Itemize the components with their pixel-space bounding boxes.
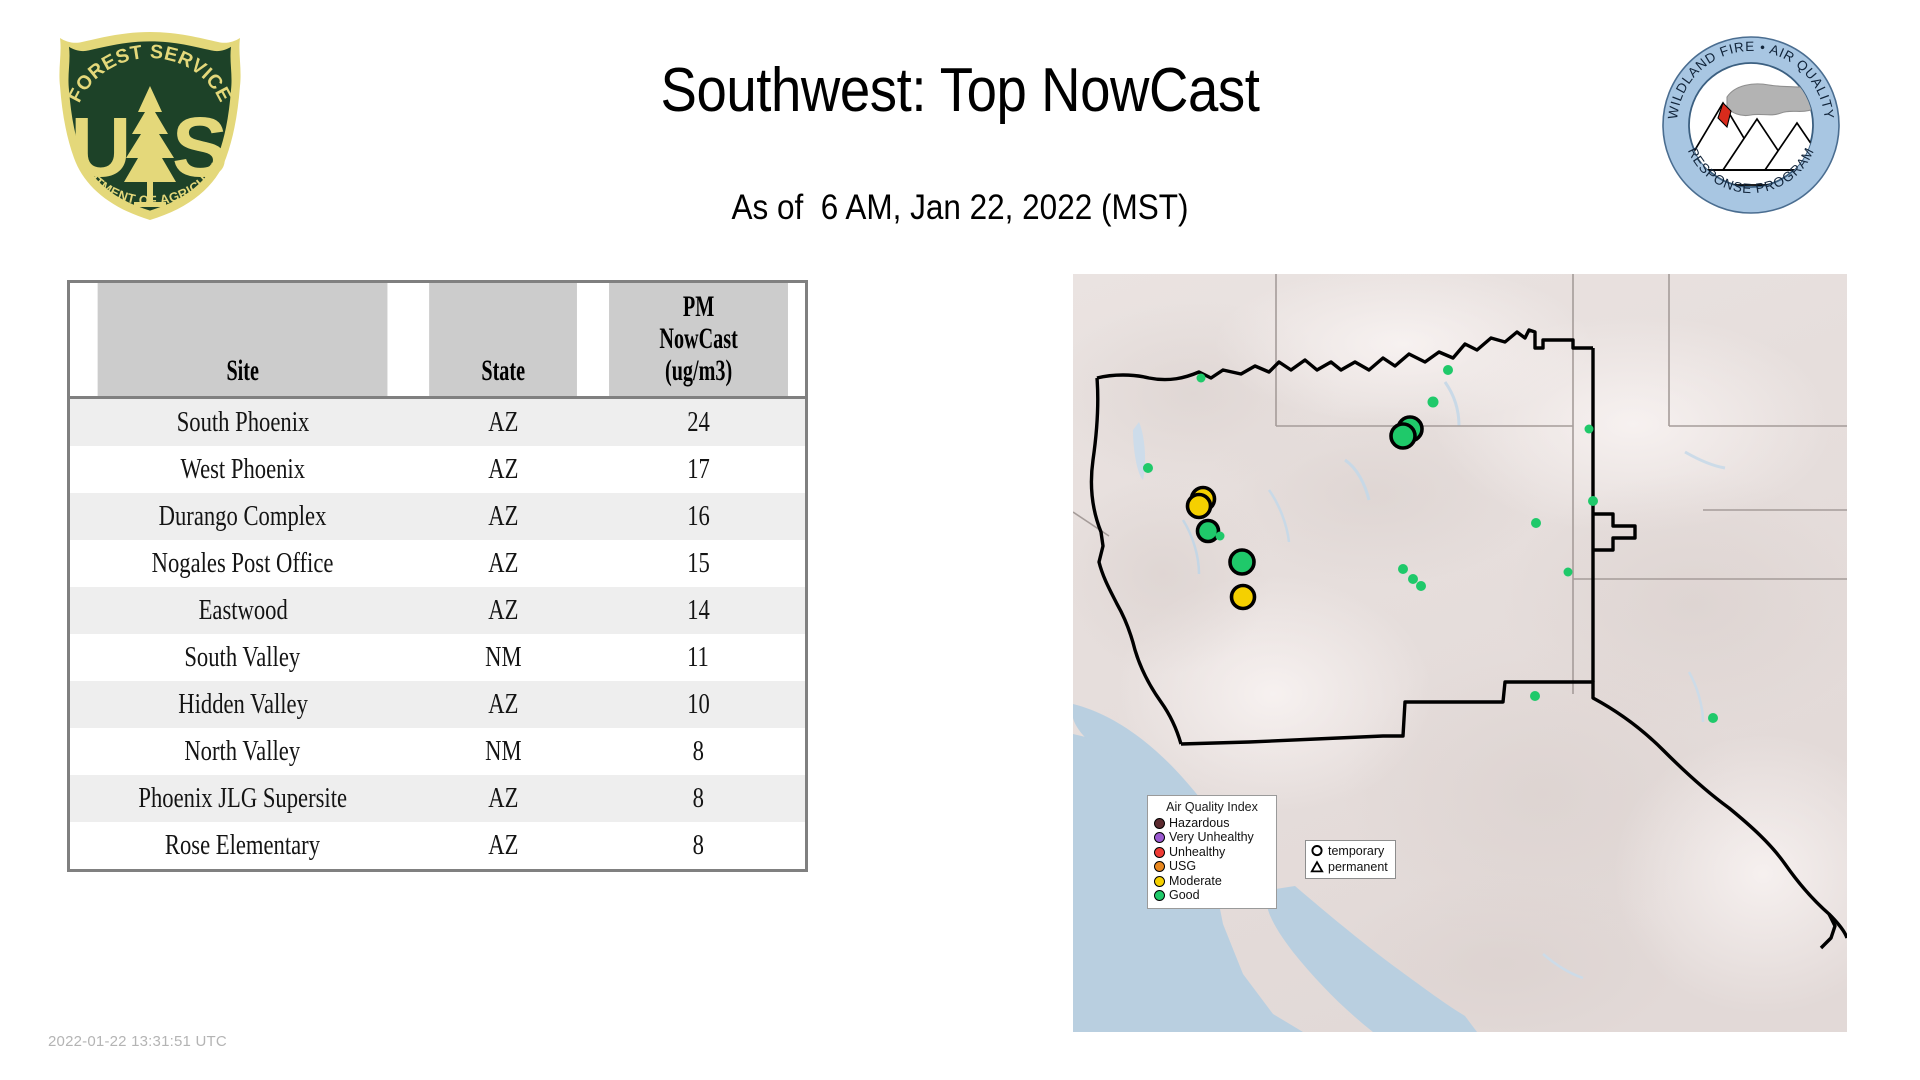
state-cell: AZ bbox=[415, 493, 591, 540]
pm-nowcast-cell: 8 bbox=[592, 728, 805, 775]
site-cell: South Phoenix bbox=[70, 398, 415, 447]
aqi-legend-row: Unhealthy bbox=[1154, 845, 1270, 860]
monitor-marker[interactable] bbox=[1443, 365, 1453, 375]
site-cell: West Phoenix bbox=[70, 446, 415, 493]
table-row: EastwoodAZ14 bbox=[70, 587, 805, 634]
pm-nowcast-cell-value: 8 bbox=[693, 822, 704, 869]
table-row: Nogales Post OfficeAZ15 bbox=[70, 540, 805, 587]
aqi-legend-row: Moderate bbox=[1154, 874, 1270, 889]
state-cell-value: AZ bbox=[489, 493, 519, 540]
column-header-pm-line1: PM bbox=[627, 291, 770, 323]
site-cell-value: Durango Complex bbox=[159, 493, 327, 540]
aqi-legend-label: USG bbox=[1169, 860, 1196, 873]
page-title: Southwest: Top NowCast bbox=[344, 55, 1576, 126]
monitor-marker[interactable] bbox=[1398, 564, 1408, 574]
state-cell: AZ bbox=[415, 681, 591, 728]
aqi-swatch-icon bbox=[1154, 832, 1165, 843]
page-header: FOREST SERVICE DEPARTMENT OF AGRICULTURE… bbox=[0, 0, 1920, 265]
monitor-marker[interactable] bbox=[1564, 568, 1573, 577]
circle-outline-icon bbox=[1310, 844, 1324, 858]
monitor-marker[interactable] bbox=[1188, 495, 1211, 518]
monitor-marker[interactable] bbox=[1216, 532, 1225, 541]
column-header-state: State bbox=[430, 283, 578, 398]
state-cell-value: AZ bbox=[489, 681, 519, 728]
site-cell: South Valley bbox=[70, 634, 415, 681]
column-header-state-label: State bbox=[444, 355, 563, 387]
site-cell-value: Eastwood bbox=[198, 587, 287, 634]
table-row: Durango ComplexAZ16 bbox=[70, 493, 805, 540]
state-cell-value: AZ bbox=[489, 446, 519, 493]
aqi-legend-row: Good bbox=[1154, 889, 1270, 904]
monitor-marker[interactable] bbox=[1197, 374, 1206, 383]
monitor-marker[interactable] bbox=[1531, 518, 1541, 528]
aqi-swatch-icon bbox=[1154, 876, 1165, 887]
state-cell-value: AZ bbox=[489, 822, 519, 869]
pm-nowcast-cell-value: 15 bbox=[687, 540, 710, 587]
state-cell-value: NM bbox=[485, 634, 521, 681]
site-cell: Nogales Post Office bbox=[70, 540, 415, 587]
pm-nowcast-cell: 8 bbox=[592, 775, 805, 822]
aqi-legend-label: Good bbox=[1169, 889, 1200, 902]
table-row: Hidden ValleyAZ10 bbox=[70, 681, 805, 728]
state-cell: AZ bbox=[415, 587, 591, 634]
site-cell: Durango Complex bbox=[70, 493, 415, 540]
monitor-marker[interactable] bbox=[1530, 691, 1540, 701]
aqi-legend-row: Very Unhealthy bbox=[1154, 831, 1270, 846]
column-header-site: Site bbox=[98, 283, 388, 398]
site-cell: Eastwood bbox=[70, 587, 415, 634]
fs-logo-letter-s: S bbox=[172, 100, 228, 194]
monitor-marker[interactable] bbox=[1408, 574, 1418, 584]
state-cell: NM bbox=[415, 728, 591, 775]
monitor-marker[interactable] bbox=[1588, 496, 1598, 506]
aqi-swatch-icon bbox=[1154, 818, 1165, 829]
pm-nowcast-cell-value: 14 bbox=[687, 587, 710, 634]
southwest-air-quality-monitor-map[interactable] bbox=[1073, 274, 1847, 1032]
state-cell: NM bbox=[415, 634, 591, 681]
pm-nowcast-cell-value: 17 bbox=[687, 446, 710, 493]
nowcast-table: Site State PM NowCast (ug/m3) South Phoe… bbox=[70, 283, 805, 869]
state-cell: AZ bbox=[415, 822, 591, 869]
monitor-type-legend: temporary permanent bbox=[1305, 840, 1396, 879]
pm-nowcast-cell: 10 bbox=[592, 681, 805, 728]
aqi-legend-label: Moderate bbox=[1169, 875, 1222, 888]
table-body: South PhoenixAZ24West PhoenixAZ17Durango… bbox=[70, 398, 805, 870]
aqi-legend-label: Very Unhealthy bbox=[1169, 831, 1254, 844]
site-cell-value: Hidden Valley bbox=[178, 681, 308, 728]
column-header-site-label: Site bbox=[127, 355, 359, 387]
site-cell-value: Phoenix JLG Supersite bbox=[138, 775, 347, 822]
table-header: Site State PM NowCast (ug/m3) bbox=[70, 283, 805, 398]
site-cell-value: South Valley bbox=[185, 634, 301, 681]
pm-nowcast-cell-value: 16 bbox=[687, 493, 710, 540]
aqi-swatch-icon bbox=[1154, 847, 1165, 858]
monitor-marker[interactable] bbox=[1143, 463, 1153, 473]
monitor-marker[interactable] bbox=[1585, 425, 1594, 434]
aqi-legend-row: Hazardous bbox=[1154, 816, 1270, 831]
us-forest-service-shield-logo: FOREST SERVICE DEPARTMENT OF AGRICULTURE… bbox=[50, 28, 250, 224]
monitor-marker[interactable] bbox=[1391, 424, 1415, 448]
monitor-marker[interactable] bbox=[1232, 586, 1255, 609]
nowcast-table-container: Site State PM NowCast (ug/m3) South Phoe… bbox=[67, 280, 808, 872]
table-header-row: Site State PM NowCast (ug/m3) bbox=[70, 283, 805, 398]
triangle-outline-icon bbox=[1310, 860, 1324, 874]
column-header-pm-nowcast: PM NowCast (ug/m3) bbox=[609, 283, 788, 398]
pm-nowcast-cell: 8 bbox=[592, 822, 805, 869]
table-row: South ValleyNM11 bbox=[70, 634, 805, 681]
state-cell-value: AZ bbox=[489, 775, 519, 822]
render-timestamp: 2022-01-22 13:31:51 UTC bbox=[48, 1033, 227, 1050]
pm-nowcast-cell: 11 bbox=[592, 634, 805, 681]
aqi-legend-row: USG bbox=[1154, 860, 1270, 875]
aqi-swatch-icon bbox=[1154, 861, 1165, 872]
column-header-pm-line3: (ug/m3) bbox=[627, 355, 770, 387]
monitor-marker[interactable] bbox=[1428, 397, 1439, 408]
wildland-fire-air-quality-response-program-logo: WILDLAND FIRE • AIR QUALITY RESPONSE PRO… bbox=[1661, 35, 1841, 215]
site-cell: Rose Elementary bbox=[70, 822, 415, 869]
aqi-legend-title: Air Quality Index bbox=[1154, 800, 1270, 814]
site-cell: Hidden Valley bbox=[70, 681, 415, 728]
column-header-pm-line2: NowCast bbox=[627, 323, 770, 355]
monitor-marker[interactable] bbox=[1230, 550, 1254, 574]
pm-nowcast-cell-value: 8 bbox=[693, 775, 704, 822]
table-row: South PhoenixAZ24 bbox=[70, 398, 805, 447]
pm-nowcast-cell-value: 24 bbox=[687, 399, 710, 446]
pm-nowcast-cell: 17 bbox=[592, 446, 805, 493]
monitor-marker[interactable] bbox=[1708, 713, 1718, 723]
state-cell: AZ bbox=[415, 775, 591, 822]
site-cell-value: Nogales Post Office bbox=[152, 540, 334, 587]
aqi-legend: Air Quality Index HazardousVery Unhealth… bbox=[1147, 795, 1277, 909]
pm-nowcast-cell: 24 bbox=[592, 398, 805, 447]
state-cell-value: AZ bbox=[489, 587, 519, 634]
pm-nowcast-cell: 16 bbox=[592, 493, 805, 540]
site-cell: Phoenix JLG Supersite bbox=[70, 775, 415, 822]
aqi-legend-label: Unhealthy bbox=[1169, 846, 1225, 859]
pm-nowcast-cell-value: 11 bbox=[688, 634, 710, 681]
site-cell-value: South Phoenix bbox=[176, 399, 309, 446]
pm-nowcast-cell-value: 8 bbox=[693, 728, 704, 775]
state-cell: AZ bbox=[415, 398, 591, 447]
state-cell-value: AZ bbox=[489, 540, 519, 587]
page-subtitle: As of 6 AM, Jan 22, 2022 (MST) bbox=[330, 188, 1590, 228]
legend-row-temporary: temporary bbox=[1310, 843, 1388, 859]
pm-nowcast-cell: 15 bbox=[592, 540, 805, 587]
fs-logo-letter-u: U bbox=[71, 100, 132, 194]
monitor-marker[interactable] bbox=[1198, 521, 1219, 542]
state-cell: AZ bbox=[415, 540, 591, 587]
site-cell-value: West Phoenix bbox=[180, 446, 304, 493]
aqi-legend-label: Hazardous bbox=[1169, 817, 1229, 830]
pm-nowcast-cell-value: 10 bbox=[687, 681, 710, 728]
legend-row-permanent: permanent bbox=[1310, 859, 1388, 875]
state-cell-value: AZ bbox=[489, 399, 519, 446]
site-cell-value: Rose Elementary bbox=[165, 822, 320, 869]
site-cell-value: North Valley bbox=[185, 728, 301, 775]
table-row: North ValleyNM8 bbox=[70, 728, 805, 775]
aqi-legend-rows: HazardousVery UnhealthyUnhealthyUSGModer… bbox=[1154, 816, 1270, 903]
site-cell: North Valley bbox=[70, 728, 415, 775]
table-row: West PhoenixAZ17 bbox=[70, 446, 805, 493]
state-cell-value: NM bbox=[485, 728, 521, 775]
legend-label-temporary: temporary bbox=[1328, 844, 1384, 858]
legend-label-permanent: permanent bbox=[1328, 860, 1388, 874]
pm-nowcast-cell: 14 bbox=[592, 587, 805, 634]
monitor-marker[interactable] bbox=[1416, 581, 1426, 591]
aqi-swatch-icon bbox=[1154, 890, 1165, 901]
table-row: Rose ElementaryAZ8 bbox=[70, 822, 805, 869]
state-cell: AZ bbox=[415, 446, 591, 493]
table-row: Phoenix JLG SupersiteAZ8 bbox=[70, 775, 805, 822]
